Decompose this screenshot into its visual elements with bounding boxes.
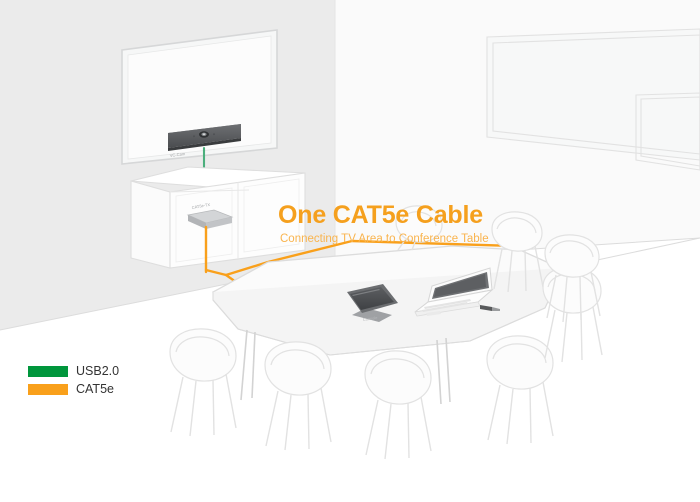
chair (265, 342, 331, 450)
legend-swatch-usb (28, 366, 68, 377)
chair (170, 329, 236, 436)
diagram-canvas: VC-Cam (0, 0, 700, 502)
legend-label-cat5e: CAT5e (76, 383, 114, 396)
legend: USB2.0 CAT5e (28, 364, 119, 400)
legend-item-usb: USB2.0 (28, 364, 119, 379)
chair (365, 351, 431, 459)
chair (487, 336, 553, 444)
legend-swatch-cat5e (28, 384, 68, 395)
legend-item-cat5e: CAT5e (28, 382, 119, 397)
legend-label-usb: USB2.0 (76, 365, 119, 378)
scene-illustration: VC-Cam (0, 0, 700, 502)
